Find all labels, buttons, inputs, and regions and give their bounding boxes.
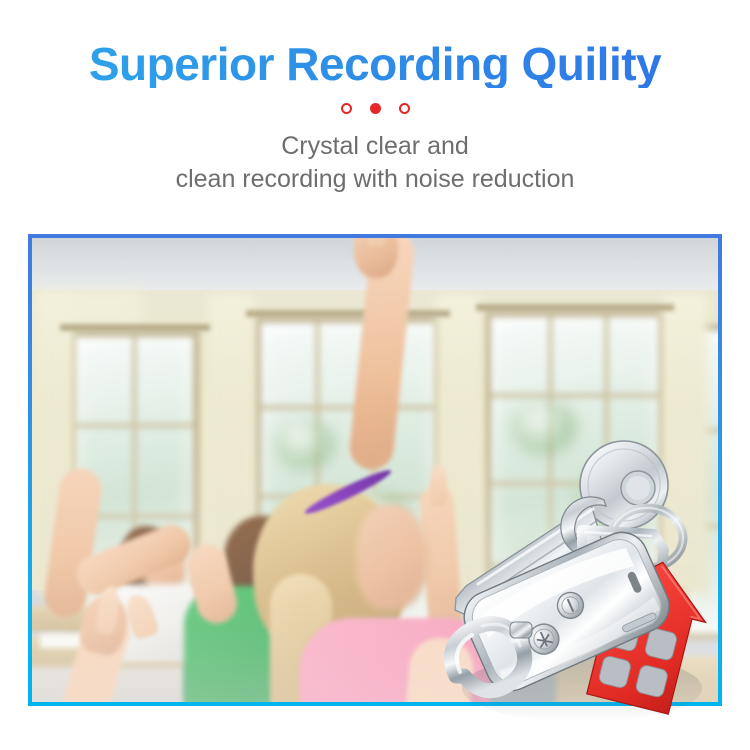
dot-left-icon xyxy=(341,103,352,114)
page-title: Superior Recording Quility xyxy=(0,40,750,88)
header: Superior Recording Quility Crystal clear… xyxy=(0,0,750,196)
subtitle-line-2: clean recording with noise reduction xyxy=(0,163,750,196)
subtitle: Crystal clear and clean recording with n… xyxy=(0,130,750,196)
pointing-finger-right xyxy=(366,238,386,246)
product-keychain-recorder xyxy=(432,438,742,738)
separator-dots xyxy=(0,100,750,116)
subtitle-line-1: Crystal clear and xyxy=(0,130,750,163)
girl-foreground-face xyxy=(356,504,428,610)
dot-right-icon xyxy=(399,103,410,114)
dot-center-icon xyxy=(370,103,381,114)
